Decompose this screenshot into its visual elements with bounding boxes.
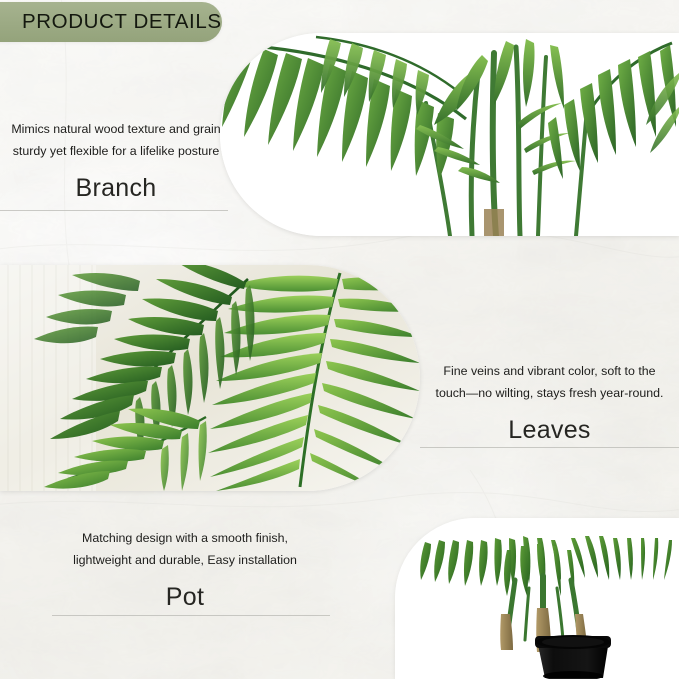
branch-description-line-1: Mimics natural wood texture and grain	[0, 118, 232, 140]
pot-heading: Pot	[30, 583, 340, 612]
page-title: PRODUCT DETAILS	[22, 10, 222, 34]
leaves-image-panel	[0, 265, 420, 491]
pot-description-line-1: Matching design with a smooth finish,	[30, 527, 340, 549]
potted-plant-photo	[395, 518, 679, 679]
branch-description-line-2: sturdy yet flexible for a lifelike postu…	[0, 140, 232, 162]
section-divider-3	[52, 615, 330, 616]
pot-image-panel	[395, 518, 679, 679]
section-title-badge: PRODUCT DETAILS	[0, 2, 222, 42]
pot-description-line-2: lightweight and durable, Easy installati…	[30, 549, 340, 571]
section-divider-1	[0, 210, 228, 211]
product-details-infographic: PRODUCT DETAILS	[0, 0, 679, 679]
leaves-heading: Leaves	[420, 416, 679, 445]
pot-text-block: Matching design with a smooth finish, li…	[30, 527, 340, 612]
palm-leaves-photo	[0, 265, 420, 491]
leaves-text-block: Fine veins and vibrant color, soft to th…	[420, 360, 679, 445]
section-divider-2	[420, 447, 679, 448]
leaves-description-line-1: Fine veins and vibrant color, soft to th…	[420, 360, 679, 382]
branch-heading: Branch	[0, 174, 232, 203]
branch-text-block: Mimics natural wood texture and grain st…	[0, 118, 232, 203]
branch-image-panel	[220, 33, 679, 236]
leaves-description-line-2: touch—no wilting, stays fresh year-round…	[420, 382, 679, 404]
palm-branch-photo	[220, 33, 679, 236]
